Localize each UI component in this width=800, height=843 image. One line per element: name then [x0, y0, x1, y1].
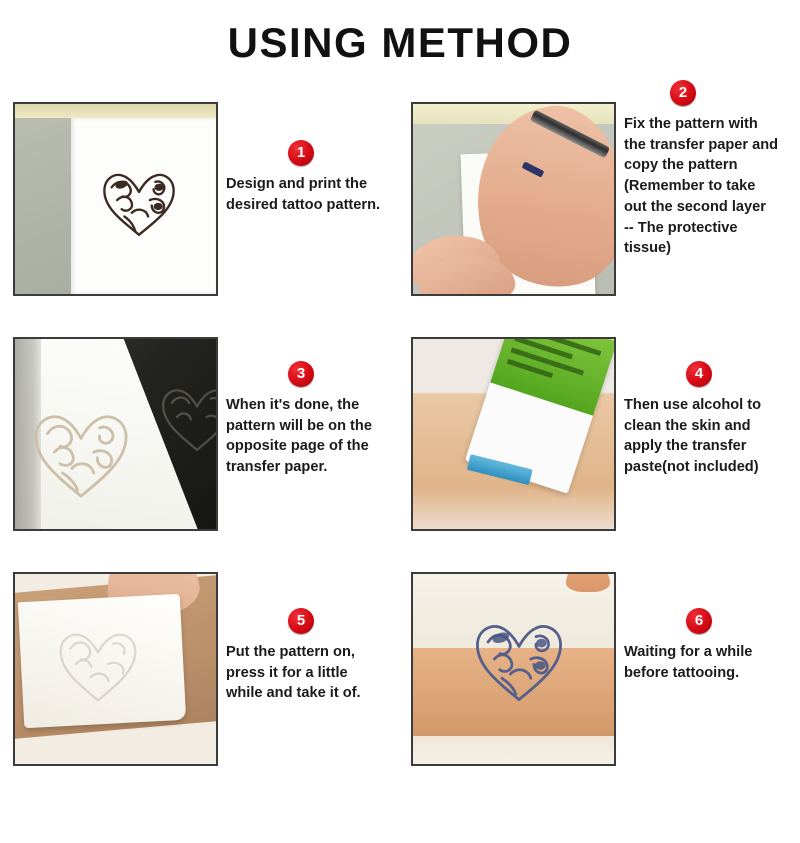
step-photo-1 — [13, 102, 218, 296]
step-text-4: Then use alcohol to clean the skin and a… — [624, 395, 800, 478]
step-caption-5: 5 Put the pattern on, press it for a lit… — [226, 608, 402, 843]
step-photo-2 — [411, 102, 616, 296]
step-card-2: 2 Fix the pattern with the transfer pape… — [408, 96, 798, 331]
printed-tattoo-pattern-on-paper — [15, 104, 216, 294]
step-row: 1 Design and print the desired tattoo pa… — [0, 96, 800, 331]
step-caption-6: 6 Waiting for a while before tattooing. — [624, 608, 800, 843]
steps-grid: 1 Design and print the desired tattoo pa… — [0, 96, 800, 801]
hand-tracing-pattern-with-pen — [413, 104, 614, 294]
desk-surface — [15, 118, 71, 294]
step-card-4: 4 Then use alcohol to clean the skin and… — [408, 331, 798, 566]
step-number-badge-5: 5 — [288, 608, 314, 634]
step-caption-3: 3 When it's done, the pattern will be on… — [226, 361, 402, 596]
step-text-5: Put the pattern on, press it for a littl… — [226, 642, 402, 704]
heart-tattoo-art-dark — [153, 377, 218, 455]
step-text-2: Fix the pattern with the transfer paper … — [624, 114, 800, 259]
step-caption-4: 4 Then use alcohol to clean the skin and… — [624, 361, 800, 596]
step-number-badge-2: 2 — [670, 80, 696, 106]
step-number-badge-1: 1 — [288, 140, 314, 166]
step-number-badge-4: 4 — [686, 361, 712, 387]
step-photo-5 — [13, 572, 218, 766]
step-text-1: Design and print the desired tattoo patt… — [226, 174, 402, 215]
step-card-6: 6 Waiting for a while before tattooing. — [408, 566, 798, 801]
step-text-3: When it's done, the pattern will be on t… — [226, 395, 402, 478]
alcohol-wipe-pack-over-skin — [413, 339, 614, 529]
step-number-badge-6: 6 — [686, 608, 712, 634]
peeled-transfer-paper-showing-pattern — [15, 339, 216, 529]
step-photo-6 — [411, 572, 616, 766]
step-photo-4 — [411, 337, 616, 531]
step-card-3: 3 When it's done, the pattern will be on… — [10, 331, 400, 566]
step-row: 3 When it's done, the pattern will be on… — [0, 331, 800, 566]
heart-tattoo-art — [93, 160, 185, 242]
page-title: USING METHOD — [0, 22, 800, 64]
step-text-6: Waiting for a while before tattooing. — [624, 642, 800, 683]
step-card-5: 5 Put the pattern on, press it for a lit… — [10, 566, 400, 801]
heart-tattoo-art-faint — [49, 620, 147, 706]
transferred-pattern-on-skin — [413, 574, 614, 764]
desk-edge — [15, 104, 216, 118]
heart-tattoo-art-light — [21, 399, 141, 503]
step-caption-2: 2 Fix the pattern with the transfer pape… — [624, 80, 800, 315]
step-number-badge-3: 3 — [288, 361, 314, 387]
step-photo-3 — [13, 337, 218, 531]
background-strip — [413, 736, 614, 764]
heart-tattoo-art-blue — [465, 610, 573, 706]
pressing-pattern-onto-skin — [15, 574, 216, 764]
step-row: 5 Put the pattern on, press it for a lit… — [0, 566, 800, 801]
finger — [566, 572, 610, 592]
step-card-1: 1 Design and print the desired tattoo pa… — [10, 96, 400, 331]
